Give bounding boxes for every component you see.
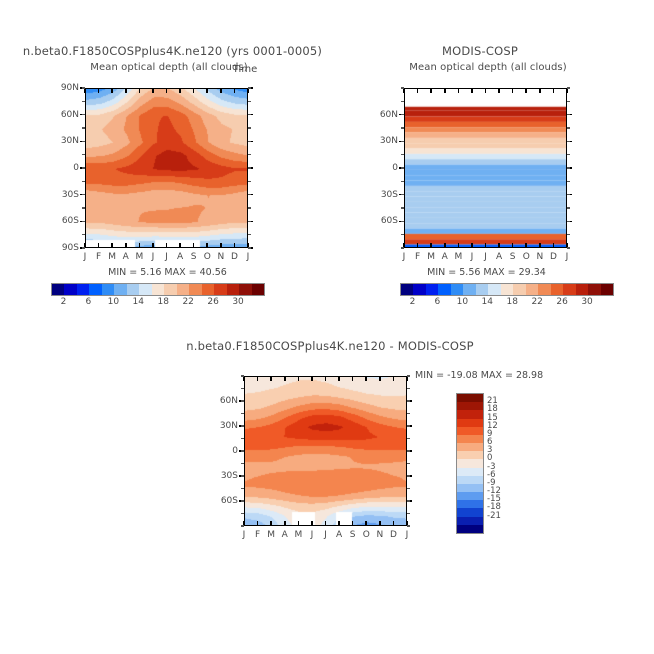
obs-colorbar-swatch: [588, 284, 600, 295]
diff-colorbar-swatch: [457, 517, 483, 525]
diff-y-minor-tick: [241, 500, 244, 501]
diff-y-label: 0: [210, 446, 238, 456]
diff-y-minor-tick: [407, 488, 410, 489]
obs-x-tick: [430, 243, 432, 248]
model-y-minor-tick: [248, 127, 251, 128]
obs-y-minor-tick: [401, 114, 404, 115]
diff-x-tick: [257, 376, 259, 381]
obs-x-tick: [553, 243, 555, 248]
obs-x-label: M: [427, 252, 435, 262]
model-y-minor-tick: [248, 114, 251, 115]
diff-colorbar-swatch: [457, 459, 483, 467]
model-y-minor-tick: [248, 141, 251, 142]
diff-y-minor-tick: [407, 413, 410, 414]
model-y-minor-tick: [248, 234, 251, 235]
obs-x-tick: [525, 88, 527, 93]
diff-x-tick: [379, 521, 381, 526]
model-y-label: 30N: [51, 136, 79, 146]
diff-colorbar-tick-label: -21: [487, 511, 501, 521]
model-x-tick: [179, 88, 181, 93]
obs-x-tick: [458, 88, 460, 93]
diff-y-minor-tick: [407, 513, 410, 514]
model-x-tick: [179, 243, 181, 248]
obs-x-tick: [539, 243, 541, 248]
diff-colorbar-swatch: [457, 427, 483, 435]
obs-y-minor-tick: [567, 154, 570, 155]
diff-colorbar-swatch: [457, 394, 483, 402]
model-y-minor-tick: [82, 114, 85, 115]
model-colorbar-tick-label: 26: [207, 297, 218, 307]
obs-x-tick: [471, 243, 473, 248]
obs-panel-subtitle: Mean optical depth (all clouds): [403, 62, 573, 73]
diff-x-tick: [257, 521, 259, 526]
diff-x-tick: [393, 521, 395, 526]
diff-x-tick: [352, 521, 354, 526]
model-colorbar-tick-label: 22: [182, 297, 193, 307]
diff-y-minor-tick: [407, 500, 410, 501]
diff-x-label: A: [336, 530, 342, 540]
diff-colorbar-swatch: [457, 484, 483, 492]
diff-y-minor-tick: [241, 450, 244, 451]
obs-colorbar-swatch: [601, 284, 613, 295]
obs-colorbar-swatch: [538, 284, 550, 295]
diff-x-label: N: [376, 530, 383, 540]
diff-colorbar-swatch: [457, 435, 483, 443]
model-y-label: 90N: [51, 83, 79, 93]
diff-y-minor-tick: [407, 388, 410, 389]
model-colorbar-swatch: [64, 284, 76, 295]
model-x-label: D: [231, 252, 238, 262]
model-colorbar-swatch: [227, 284, 239, 295]
diff-y-label: 60S: [210, 496, 238, 506]
diff-x-label: D: [390, 530, 397, 540]
obs-y-minor-tick: [567, 114, 570, 115]
diff-x-tick: [325, 521, 327, 526]
obs-y-minor-tick: [401, 194, 404, 195]
obs-colorbar-tick-label: 10: [457, 297, 468, 307]
model-y-minor-tick: [248, 194, 251, 195]
diff-x-tick: [270, 376, 272, 381]
model-colorbar-swatch: [252, 284, 264, 295]
obs-x-label: F: [415, 252, 420, 262]
diff-x-tick: [365, 376, 367, 381]
diff-y-minor-tick: [241, 438, 244, 439]
diff-y-minor-tick: [407, 463, 410, 464]
obs-x-tick: [553, 88, 555, 93]
model-x-label: A: [123, 252, 129, 262]
obs-colorbar-tick-label: 26: [556, 297, 567, 307]
diff-y-minor-tick: [407, 475, 410, 476]
diff-y-minor-tick: [241, 513, 244, 514]
obs-colorbar-swatch: [413, 284, 425, 295]
obs-y-minor-tick: [567, 167, 570, 168]
obs-x-tick: [444, 88, 446, 93]
model-x-label: O: [204, 252, 211, 262]
model-y-minor-tick: [82, 101, 85, 102]
diff-colorbar[interactable]: [456, 393, 484, 534]
diff-y-minor-tick: [407, 425, 410, 426]
diff-x-tick: [379, 376, 381, 381]
obs-x-label: A: [496, 252, 502, 262]
obs-y-minor-tick: [401, 207, 404, 208]
diff-x-tick: [338, 376, 340, 381]
obs-y-label: 60S: [370, 216, 398, 226]
obs-x-tick: [485, 243, 487, 248]
obs-x-tick: [471, 88, 473, 93]
obs-colorbar-tick-label: 6: [435, 297, 441, 307]
model-x-label: A: [177, 252, 183, 262]
obs-y-label: 60N: [370, 110, 398, 120]
obs-x-label: O: [523, 252, 530, 262]
model-x-tick: [220, 88, 222, 93]
model-x-tick: [166, 88, 168, 93]
model-x-tick: [125, 243, 127, 248]
obs-colorbar-swatch: [551, 284, 563, 295]
diff-x-label: O: [363, 530, 370, 540]
model-colorbar-swatch: [164, 284, 176, 295]
diff-x-label: J: [243, 530, 246, 540]
obs-x-tick: [417, 243, 419, 248]
obs-y-minor-tick: [401, 141, 404, 142]
obs-y-minor-tick: [401, 221, 404, 222]
obs-colorbar-swatch: [401, 284, 413, 295]
obs-y-label: 0: [370, 163, 398, 173]
diff-y-label: 60N: [210, 396, 238, 406]
model-x-tick: [152, 88, 154, 93]
obs-colorbar-tick-label: 2: [410, 297, 416, 307]
obs-x-label: J: [471, 252, 474, 262]
diff-colorbar-swatch: [457, 468, 483, 476]
diff-colorbar-swatch: [457, 402, 483, 410]
model-x-tick: [125, 88, 127, 93]
model-x-tick: [206, 243, 208, 248]
model-x-label: M: [108, 252, 116, 262]
model-x-label: J: [165, 252, 168, 262]
model-y-minor-tick: [248, 221, 251, 222]
model-y-minor-tick: [248, 154, 251, 155]
obs-colorbar-swatch: [563, 284, 575, 295]
model-y-minor-tick: [82, 247, 85, 248]
model-y-minor-tick: [82, 194, 85, 195]
diff-x-tick: [284, 376, 286, 381]
model-y-minor-tick: [82, 141, 85, 142]
obs-y-minor-tick: [567, 234, 570, 235]
model-colorbar[interactable]: [51, 283, 265, 296]
obs-x-label: A: [442, 252, 448, 262]
model-x-tick: [98, 243, 100, 248]
model-colorbar-swatch: [214, 284, 226, 295]
obs-x-label: J: [566, 252, 569, 262]
diff-y-minor-tick: [407, 375, 410, 376]
obs-colorbar-swatch: [501, 284, 513, 295]
model-x-tick: [111, 243, 113, 248]
obs-x-tick: [444, 243, 446, 248]
obs-y-label: 30S: [370, 190, 398, 200]
diff-x-tick: [325, 376, 327, 381]
model-panel-plot: [85, 88, 248, 248]
model-y-minor-tick: [82, 207, 85, 208]
model-x-tick: [98, 88, 100, 93]
diff-x-label: M: [294, 530, 302, 540]
model-colorbar-swatch: [89, 284, 101, 295]
model-x-tick: [206, 88, 208, 93]
diff-x-tick: [311, 521, 313, 526]
diff-colorbar-swatch: [457, 443, 483, 451]
diff-x-tick: [298, 521, 300, 526]
model-x-tick: [234, 88, 236, 93]
model-y-minor-tick: [248, 87, 251, 88]
obs-colorbar-swatch: [488, 284, 500, 295]
obs-colorbar-swatch: [513, 284, 525, 295]
diff-colorbar-swatch: [457, 451, 483, 459]
model-colorbar-tick-label: 18: [158, 297, 169, 307]
model-x-tick: [193, 243, 195, 248]
obs-x-tick: [417, 88, 419, 93]
diff-colorbar-swatch: [457, 525, 483, 533]
model-colorbar-swatch: [139, 284, 151, 295]
obs-colorbar-swatch: [576, 284, 588, 295]
diff-y-minor-tick: [241, 475, 244, 476]
obs-x-label: D: [550, 252, 557, 262]
model-y-minor-tick: [248, 181, 251, 182]
model-x-tick: [139, 243, 141, 248]
diff-x-label: F: [255, 530, 260, 540]
diff-colorbar-swatch: [457, 419, 483, 427]
obs-x-label: S: [510, 252, 516, 262]
model-y-minor-tick: [248, 167, 251, 168]
obs-x-tick: [512, 243, 514, 248]
diff-colorbar-swatch: [457, 508, 483, 516]
model-x-label: J: [247, 252, 250, 262]
model-colorbar-swatch: [152, 284, 164, 295]
model-x-tick: [193, 88, 195, 93]
diff-y-minor-tick: [241, 425, 244, 426]
obs-panel-plot: [404, 88, 567, 248]
diff-x-tick: [311, 376, 313, 381]
diff-x-tick: [270, 521, 272, 526]
diff-y-minor-tick: [407, 450, 410, 451]
obs-colorbar-swatch: [463, 284, 475, 295]
diff-x-tick: [393, 376, 395, 381]
model-y-minor-tick: [82, 87, 85, 88]
diff-panel-title: n.beta0.F1850COSPplus4K.ne120 - MODIS-CO…: [135, 339, 525, 353]
obs-colorbar-swatch: [476, 284, 488, 295]
obs-colorbar-swatch: [426, 284, 438, 295]
model-y-minor-tick: [248, 247, 251, 248]
diff-x-label: M: [267, 530, 275, 540]
model-panel-time-label: Time: [220, 64, 270, 75]
model-y-label: 60N: [51, 110, 79, 120]
obs-x-tick: [458, 243, 460, 248]
model-x-tick: [111, 88, 113, 93]
obs-x-tick: [539, 88, 541, 93]
obs-y-minor-tick: [567, 181, 570, 182]
model-y-label: 30S: [51, 190, 79, 200]
model-x-tick: [139, 88, 141, 93]
obs-x-tick: [403, 88, 405, 93]
obs-y-minor-tick: [401, 87, 404, 88]
diff-colorbar-swatch: [457, 476, 483, 484]
obs-x-tick: [512, 88, 514, 93]
model-y-minor-tick: [82, 181, 85, 182]
diff-y-label: 30S: [210, 471, 238, 481]
model-colorbar-swatch: [202, 284, 214, 295]
obs-x-tick: [566, 88, 568, 93]
obs-y-minor-tick: [567, 247, 570, 248]
diff-x-tick: [365, 521, 367, 526]
obs-y-minor-tick: [401, 101, 404, 102]
model-colorbar-swatch: [114, 284, 126, 295]
diff-x-label: J: [311, 530, 314, 540]
obs-y-minor-tick: [401, 127, 404, 128]
obs-x-label: M: [454, 252, 462, 262]
model-colorbar-tick-label: 10: [108, 297, 119, 307]
obs-colorbar-swatch: [438, 284, 450, 295]
model-x-label: M: [135, 252, 143, 262]
model-x-label: J: [152, 252, 155, 262]
obs-y-minor-tick: [401, 234, 404, 235]
diff-x-label: J: [406, 530, 409, 540]
diff-panel-plot: [244, 376, 407, 526]
obs-y-minor-tick: [567, 194, 570, 195]
diff-x-tick: [298, 376, 300, 381]
model-y-label: 90S: [51, 243, 79, 253]
diff-colorbar-swatch: [457, 410, 483, 418]
model-x-tick: [152, 243, 154, 248]
model-panel-title: n.beta0.F1850COSPplus4K.ne120 (yrs 0001-…: [0, 44, 345, 58]
model-colorbar-tick-label: 2: [61, 297, 67, 307]
obs-y-label: 30N: [370, 136, 398, 146]
obs-colorbar-tick-label: 22: [531, 297, 542, 307]
obs-x-label: N: [536, 252, 543, 262]
diff-y-minor-tick: [241, 413, 244, 414]
diff-x-label: J: [324, 530, 327, 540]
model-colorbar-swatch: [77, 284, 89, 295]
diff-y-minor-tick: [241, 400, 244, 401]
diff-y-label: 30N: [210, 421, 238, 431]
model-x-label: N: [217, 252, 224, 262]
model-y-minor-tick: [82, 221, 85, 222]
obs-y-minor-tick: [401, 167, 404, 168]
diff-y-minor-tick: [241, 525, 244, 526]
diff-y-minor-tick: [407, 438, 410, 439]
obs-panel-title: MODIS-COSP: [350, 44, 610, 58]
model-colorbar-swatch: [102, 284, 114, 295]
obs-x-tick: [430, 88, 432, 93]
obs-colorbar-tick-label: 14: [482, 297, 493, 307]
model-y-minor-tick: [248, 207, 251, 208]
obs-y-minor-tick: [567, 221, 570, 222]
model-colorbar-swatch: [239, 284, 251, 295]
diff-y-minor-tick: [241, 488, 244, 489]
diff-y-minor-tick: [241, 388, 244, 389]
obs-y-minor-tick: [567, 141, 570, 142]
diff-x-label: A: [282, 530, 288, 540]
obs-x-label: J: [403, 252, 406, 262]
diff-x-tick: [243, 376, 245, 381]
obs-y-minor-tick: [567, 207, 570, 208]
diff-colorbar-swatch: [457, 492, 483, 500]
diff-panel-minmax: MIN = -19.08 MAX = 28.98: [415, 370, 580, 381]
model-colorbar-swatch: [177, 284, 189, 295]
diff-y-minor-tick: [241, 375, 244, 376]
obs-y-minor-tick: [401, 154, 404, 155]
obs-y-minor-tick: [401, 247, 404, 248]
model-y-label: 0: [51, 163, 79, 173]
model-y-label: 60S: [51, 216, 79, 226]
model-x-label: J: [84, 252, 87, 262]
diff-y-minor-tick: [407, 525, 410, 526]
model-y-minor-tick: [82, 127, 85, 128]
diff-x-tick: [406, 376, 408, 381]
obs-colorbar-swatch: [451, 284, 463, 295]
diff-x-tick: [338, 521, 340, 526]
model-colorbar-swatch: [189, 284, 201, 295]
model-panel-minmax: MIN = 5.16 MAX = 40.56: [60, 267, 275, 278]
obs-colorbar-tick-label: 30: [581, 297, 592, 307]
model-x-label: S: [191, 252, 197, 262]
obs-colorbar-tick-label: 18: [507, 297, 518, 307]
diff-x-tick: [352, 376, 354, 381]
obs-y-minor-tick: [401, 181, 404, 182]
diff-y-minor-tick: [407, 400, 410, 401]
diff-y-minor-tick: [241, 463, 244, 464]
model-colorbar-tick-label: 30: [232, 297, 243, 307]
obs-x-label: J: [484, 252, 487, 262]
obs-y-minor-tick: [567, 87, 570, 88]
model-y-minor-tick: [248, 101, 251, 102]
obs-panel-minmax: MIN = 5.56 MAX = 29.34: [379, 267, 594, 278]
model-colorbar-tick-label: 14: [133, 297, 144, 307]
model-x-tick: [234, 243, 236, 248]
obs-y-minor-tick: [567, 127, 570, 128]
model-x-tick: [220, 243, 222, 248]
obs-colorbar[interactable]: [400, 283, 614, 296]
model-colorbar-swatch: [127, 284, 139, 295]
model-x-tick: [166, 243, 168, 248]
diff-x-label: S: [350, 530, 356, 540]
diff-colorbar-swatch: [457, 500, 483, 508]
obs-x-tick: [498, 243, 500, 248]
model-colorbar-tick-label: 6: [86, 297, 92, 307]
model-y-minor-tick: [82, 234, 85, 235]
obs-x-tick: [485, 88, 487, 93]
model-y-minor-tick: [82, 167, 85, 168]
diff-x-tick: [284, 521, 286, 526]
obs-x-tick: [525, 243, 527, 248]
obs-x-tick: [498, 88, 500, 93]
model-colorbar-swatch: [52, 284, 64, 295]
model-y-minor-tick: [82, 154, 85, 155]
model-x-label: F: [96, 252, 101, 262]
obs-colorbar-swatch: [526, 284, 538, 295]
obs-y-minor-tick: [567, 101, 570, 102]
